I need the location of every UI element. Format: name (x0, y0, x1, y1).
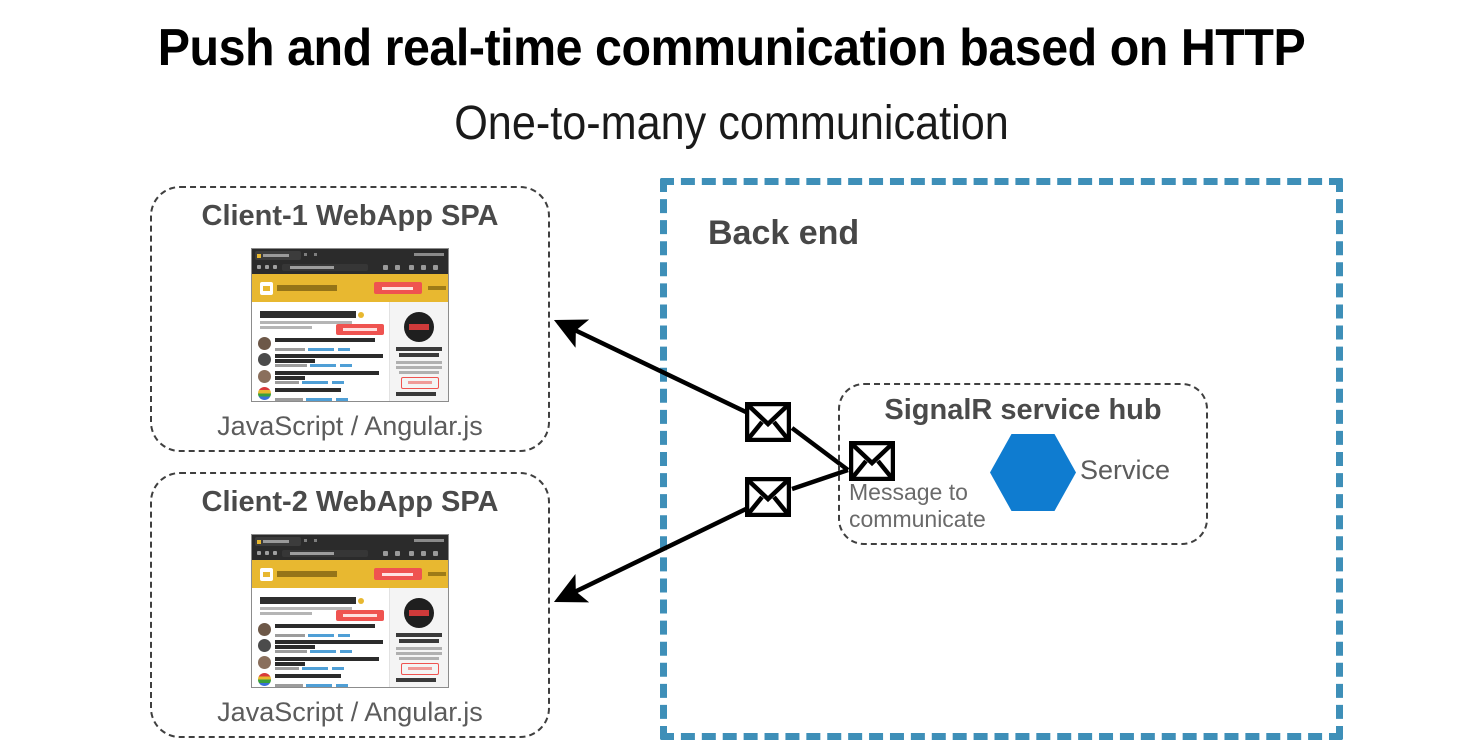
sidebar-para-3 (399, 371, 439, 374)
story-row (258, 353, 384, 368)
story-comments-link (310, 364, 336, 367)
story-row (258, 673, 384, 688)
sidebar-heading-line2 (399, 353, 439, 357)
client-2-box: Client-2 WebApp SPA (150, 472, 550, 738)
view-course-button (401, 377, 439, 389)
avatar (258, 387, 271, 400)
story-title-line2 (275, 645, 315, 649)
envelope-icon-message-2 (745, 477, 791, 517)
story-title (275, 388, 341, 392)
try-javascript-button (374, 568, 422, 580)
hub-icon (409, 551, 414, 556)
story-likes-link (338, 348, 350, 351)
back-icon (257, 551, 261, 555)
new-tab-icon (314, 539, 317, 542)
browser-navbar (252, 261, 448, 274)
story-row (258, 370, 384, 385)
site-header (252, 274, 448, 302)
share-icon (433, 265, 438, 270)
avatar (258, 639, 271, 652)
avatar (258, 673, 271, 686)
course-badge-icon (404, 598, 434, 628)
tab-title-text (263, 540, 289, 543)
tab-close-icon (304, 539, 307, 542)
url-text (290, 552, 334, 555)
story-row (258, 623, 384, 638)
backend-label: Back end (708, 214, 859, 253)
story-title-line2 (275, 359, 315, 363)
sidebar-para-3 (399, 657, 439, 660)
avatar (258, 656, 271, 669)
news-heading (260, 311, 356, 318)
avatar (258, 337, 271, 350)
news-heading (260, 597, 356, 604)
story-likes-link (340, 364, 352, 367)
story-author (275, 684, 303, 687)
favicon-icon (257, 254, 261, 258)
favorites-icon (395, 265, 400, 270)
address-bar (282, 264, 368, 271)
story-comments-link (302, 667, 328, 670)
client-1-box: Client-1 WebApp SPA (150, 186, 550, 452)
new-tab-icon (314, 253, 317, 256)
favicon-icon (257, 540, 261, 544)
story-title (275, 640, 383, 644)
avatar (258, 370, 271, 383)
story-author (275, 634, 305, 637)
avatar (258, 353, 271, 366)
sidebar-heading-line1 (396, 633, 442, 637)
js-logo-icon (260, 282, 273, 295)
story-author (275, 364, 307, 367)
sidebar-heading2 (396, 678, 436, 682)
story-title (275, 657, 379, 661)
nav-learn (428, 286, 446, 290)
notes-icon (421, 551, 426, 556)
sidebar-para-1 (396, 361, 442, 364)
address-bar (282, 550, 368, 557)
reload-icon (273, 265, 277, 269)
reading-view-icon (383, 265, 388, 270)
navbar-actions (383, 550, 445, 556)
story-title (275, 624, 375, 628)
client-2-title: Client-2 WebApp SPA (152, 486, 548, 519)
course-badge-icon (404, 312, 434, 342)
story-likes-link (336, 684, 348, 687)
story-comments-link (308, 348, 334, 351)
site-body (252, 588, 448, 687)
browser-tab (255, 251, 301, 260)
service-label: Service (1080, 455, 1170, 486)
story-title-line2 (275, 662, 305, 666)
story-row (258, 337, 384, 352)
tab-title-text (263, 254, 289, 257)
window-controls (414, 539, 444, 542)
story-title (275, 338, 375, 342)
sidebar-para-1 (396, 647, 442, 650)
rss-icon (358, 312, 364, 318)
rss-icon (358, 598, 364, 604)
news-subheading-2 (260, 612, 312, 615)
story-likes-link (332, 381, 344, 384)
sidebar-heading2 (396, 392, 436, 396)
envelope-icon-message-1 (745, 402, 791, 442)
favorites-icon (395, 551, 400, 556)
client-1-title: Client-1 WebApp SPA (152, 200, 548, 233)
client-2-footer: JavaScript / Angular.js (152, 697, 548, 728)
hub-icon (409, 265, 414, 270)
story-comments-link (306, 684, 332, 687)
try-javascript-button (374, 282, 422, 294)
story-title-line2 (275, 376, 305, 380)
navbar-actions (383, 264, 445, 270)
nav-learn (428, 572, 446, 576)
url-text (290, 266, 334, 269)
story-row (258, 387, 384, 402)
site-brand (277, 571, 337, 577)
slide-canvas: Push and real-time communication based o… (0, 0, 1463, 752)
story-author (275, 348, 305, 351)
hub-title: SignalR service hub (840, 394, 1206, 427)
submit-story-button (336, 610, 384, 621)
client-1-footer: JavaScript / Angular.js (152, 411, 548, 442)
js-logo-icon (260, 568, 273, 581)
view-course-button (401, 663, 439, 675)
story-row (258, 639, 384, 654)
sidebar-para-2 (396, 652, 442, 655)
browser-chrome (252, 535, 448, 560)
back-icon (257, 265, 261, 269)
story-title (275, 354, 383, 358)
page-subtitle: One-to-many communication (73, 96, 1390, 151)
site-brand (277, 285, 337, 291)
site-body (252, 302, 448, 401)
news-subheading-2 (260, 326, 312, 329)
envelope-icon-hub-message (849, 441, 895, 481)
sidebar-heading-line2 (399, 639, 439, 643)
sidebar-heading-line1 (396, 347, 442, 351)
story-likes-link (336, 398, 348, 401)
story-comments-link (310, 650, 336, 653)
story-title (275, 371, 379, 375)
tab-close-icon (304, 253, 307, 256)
forward-icon (265, 551, 269, 555)
signalr-service-hub-box: SignalR service hub Message to communica… (838, 383, 1208, 545)
browser-tabbar (252, 249, 448, 261)
story-author (275, 398, 303, 401)
browser-tab (255, 537, 301, 546)
story-author (275, 667, 299, 670)
submit-story-button (336, 324, 384, 335)
avatar (258, 623, 271, 636)
site-header (252, 560, 448, 588)
notes-icon (421, 265, 426, 270)
browser-navbar (252, 547, 448, 560)
window-controls (414, 253, 444, 256)
browser-tabbar (252, 535, 448, 547)
story-comments-link (306, 398, 332, 401)
story-row (258, 656, 384, 671)
story-likes-link (332, 667, 344, 670)
story-likes-link (340, 650, 352, 653)
site-sidebar (389, 588, 448, 687)
client-2-browser-thumbnail (251, 534, 449, 688)
reload-icon (273, 551, 277, 555)
story-comments-link (302, 381, 328, 384)
site-sidebar (389, 302, 448, 401)
story-likes-link (338, 634, 350, 637)
page-title: Push and real-time communication based o… (51, 18, 1412, 78)
story-author (275, 650, 307, 653)
client-1-browser-thumbnail (251, 248, 449, 402)
reading-view-icon (383, 551, 388, 556)
story-title (275, 674, 341, 678)
story-comments-link (308, 634, 334, 637)
browser-chrome (252, 249, 448, 274)
story-author (275, 381, 299, 384)
sidebar-para-2 (396, 366, 442, 369)
forward-icon (265, 265, 269, 269)
share-icon (433, 551, 438, 556)
